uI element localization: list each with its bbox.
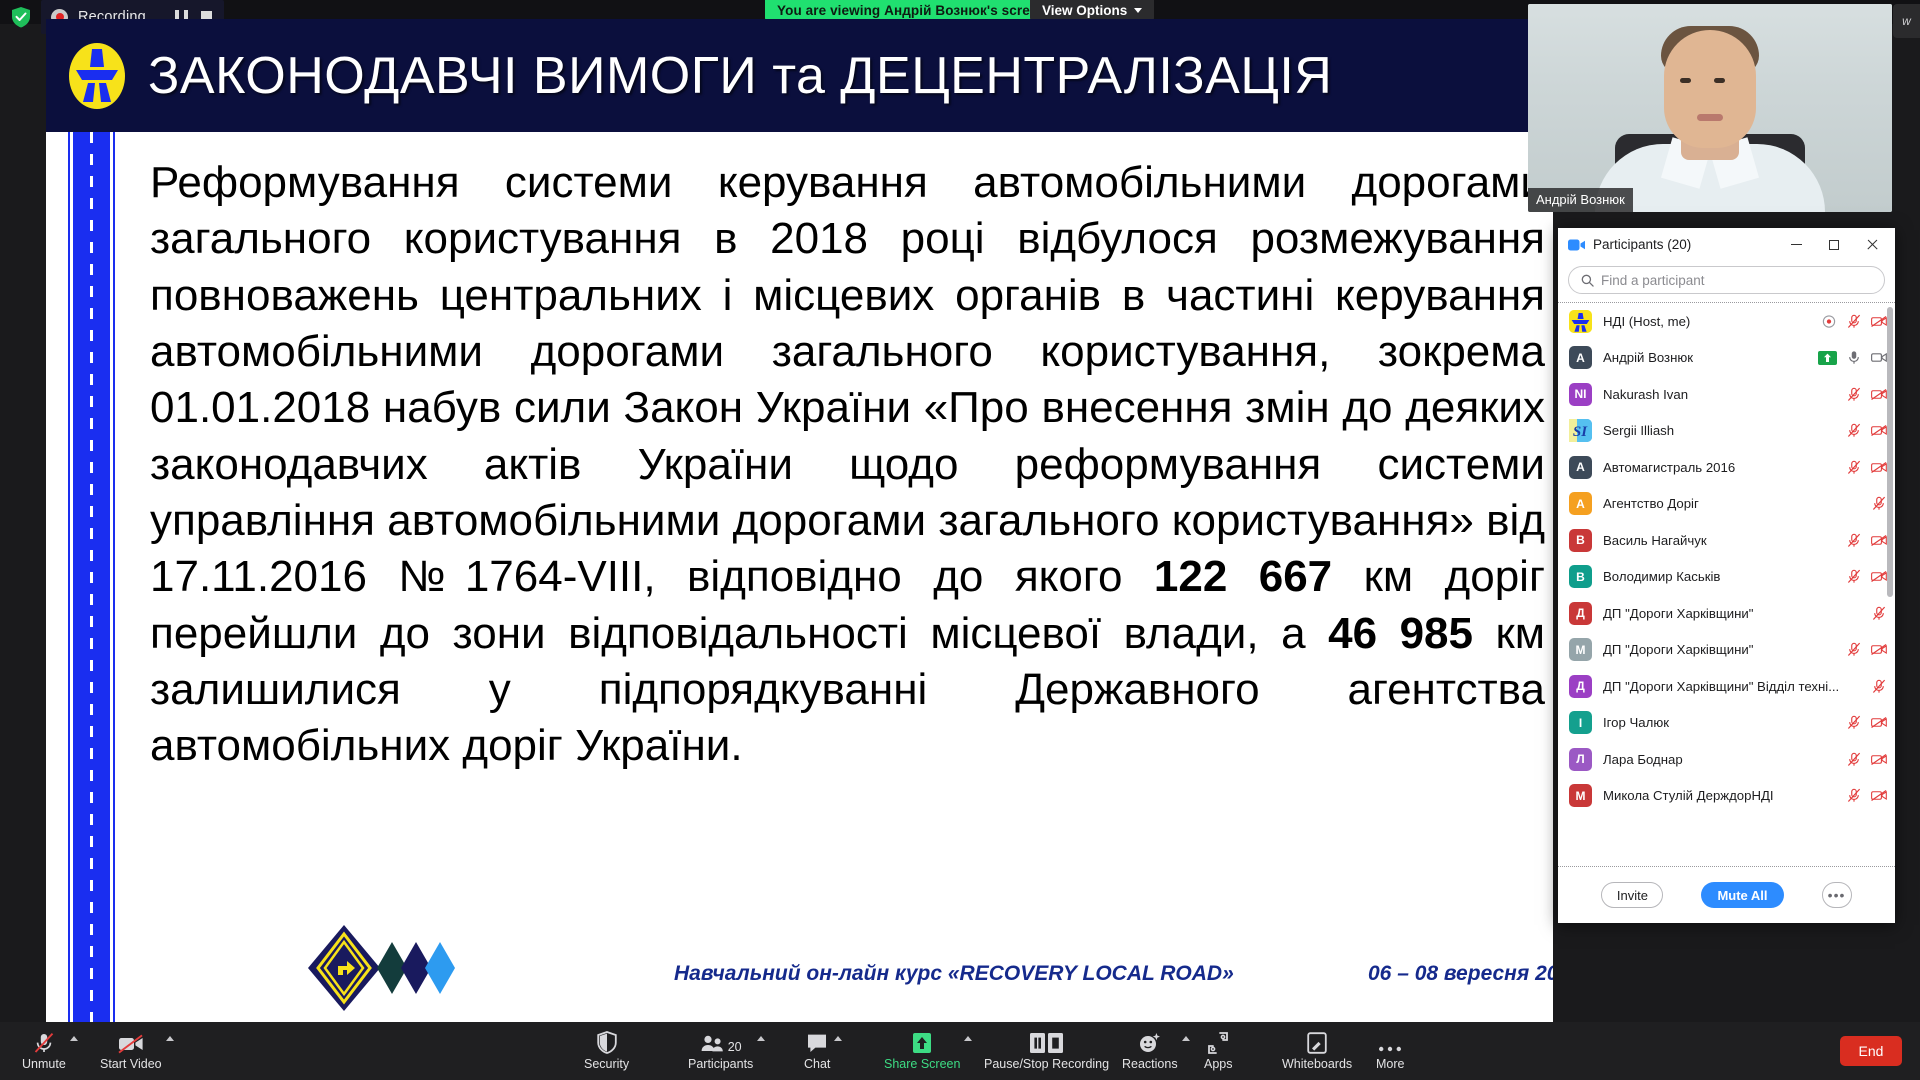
toolbar-participants-button[interactable]: 20Participants bbox=[684, 1022, 757, 1080]
toolbar-item-label: Share Screen bbox=[884, 1057, 960, 1071]
panel-close-button[interactable] bbox=[1857, 232, 1887, 258]
mic-muted-icon[interactable] bbox=[1871, 679, 1887, 694]
chat-icon bbox=[806, 1032, 828, 1054]
participant-name: Автомагистраль 2016 bbox=[1603, 460, 1835, 475]
meeting-toolbar: End Unmute Start Video Security 20Partic… bbox=[0, 1022, 1920, 1080]
participant-search-box[interactable] bbox=[1568, 266, 1885, 294]
participant-name: Лара Боднар bbox=[1603, 752, 1835, 767]
footer-course-label: Навчальний он-лайн курс «RECOVERY LOCAL … bbox=[674, 962, 1234, 986]
toolbar-chat-button[interactable]: Chat bbox=[800, 1022, 834, 1080]
slide-footer: Навчальний он-лайн курс «RECOVERY LOCAL … bbox=[46, 911, 1553, 1029]
mic-muted-icon[interactable] bbox=[1871, 496, 1887, 511]
toolbar-item-label: Whiteboards bbox=[1282, 1057, 1352, 1071]
participant-status-icons bbox=[1871, 679, 1887, 694]
participant-status-icons bbox=[1846, 423, 1887, 438]
toolbar-item-label: Security bbox=[584, 1057, 629, 1071]
video-face bbox=[1664, 30, 1756, 148]
end-meeting-button[interactable]: End bbox=[1840, 1036, 1902, 1066]
participant-name: ДП "Дороги Харківщини" bbox=[1603, 606, 1860, 621]
mic-muted-icon[interactable] bbox=[1846, 314, 1862, 329]
participant-status-icons bbox=[1846, 752, 1887, 767]
participant-row[interactable]: ААндрій Вознюк bbox=[1558, 340, 1895, 377]
chevron-up-icon[interactable] bbox=[1182, 1036, 1190, 1041]
participant-avatar: Д bbox=[1569, 602, 1592, 625]
recording-status-icon bbox=[1821, 314, 1837, 329]
video-mouth bbox=[1697, 114, 1723, 121]
pause-stop-icon bbox=[1030, 1032, 1064, 1054]
speaker-video-tile[interactable]: Андрій Вознюк bbox=[1528, 4, 1892, 212]
mute-all-button[interactable]: Mute All bbox=[1701, 882, 1783, 908]
search-input[interactable] bbox=[1601, 273, 1872, 288]
mic-on-icon[interactable] bbox=[1846, 350, 1862, 365]
svg-text:SI: SI bbox=[1573, 424, 1588, 440]
participant-name: Sergii Illiash bbox=[1603, 423, 1835, 438]
mic-muted-icon[interactable] bbox=[1846, 533, 1862, 548]
share-icon bbox=[910, 1032, 934, 1054]
toolbar-item-label: Pause/Stop Recording bbox=[984, 1057, 1109, 1071]
participant-status-icons bbox=[1846, 533, 1887, 548]
apps-icon bbox=[1207, 1032, 1229, 1054]
search-icon bbox=[1581, 274, 1594, 287]
participants-count-badge: 20 bbox=[728, 1040, 742, 1054]
toolbar-share-screen-button[interactable]: Share Screen bbox=[880, 1022, 964, 1080]
slide-body-text: Реформування системи керування автомобіл… bbox=[150, 155, 1545, 774]
participant-avatar bbox=[1569, 310, 1592, 333]
camera-off-icon[interactable] bbox=[1871, 314, 1887, 329]
participant-row[interactable]: НДІ (Host, me) bbox=[1558, 303, 1895, 340]
video-participant-name: Андрій Вознюк bbox=[1528, 188, 1633, 212]
participant-row[interactable]: NINakurash Ivan bbox=[1558, 376, 1895, 413]
participant-row[interactable]: ААвтомагистраль 2016 bbox=[1558, 449, 1895, 486]
participant-row[interactable]: ВВасиль Нагайчук bbox=[1558, 522, 1895, 559]
mic-muted-icon[interactable] bbox=[1846, 387, 1862, 402]
participant-avatar: А bbox=[1569, 492, 1592, 515]
participant-avatar: А bbox=[1569, 346, 1592, 369]
participant-row[interactable]: ДДП "Дороги Харківщини" Відділ техні... bbox=[1558, 668, 1895, 705]
participants-more-button[interactable]: ••• bbox=[1822, 882, 1852, 908]
reactions-icon bbox=[1138, 1032, 1162, 1054]
participant-status-icons bbox=[1871, 606, 1887, 621]
toolbar-item-label: More bbox=[1376, 1057, 1404, 1071]
people-icon: 20 bbox=[700, 1032, 742, 1054]
participant-status-icons bbox=[1846, 642, 1887, 657]
participants-scrollbar[interactable] bbox=[1887, 307, 1893, 842]
toolbar-apps-button[interactable]: Apps bbox=[1200, 1022, 1237, 1080]
toolbar-item-label: Unmute bbox=[22, 1057, 66, 1071]
road-stripe-decoration bbox=[68, 132, 114, 1029]
antivirus-shield-icon[interactable] bbox=[8, 4, 34, 30]
chevron-up-icon[interactable] bbox=[70, 1036, 78, 1041]
participants-panel-title: Participants (20) bbox=[1593, 237, 1773, 252]
toolbar-pause-stop-recording-button[interactable]: Pause/Stop Recording bbox=[980, 1022, 1113, 1080]
participant-name: Микола Стулій ДерждорНДІ bbox=[1603, 788, 1835, 803]
participant-avatar: NI bbox=[1569, 383, 1592, 406]
camera-off-icon[interactable] bbox=[1871, 387, 1887, 402]
mic-muted-icon[interactable] bbox=[1846, 460, 1862, 475]
shield-icon bbox=[597, 1032, 617, 1054]
panel-maximize-button[interactable] bbox=[1819, 232, 1849, 258]
chevron-up-icon[interactable] bbox=[834, 1036, 842, 1041]
slide-title: ЗАКОНОДАВЧІ ВИМОГИ та ДЕЦЕНТРАЛІЗАЦІЯ bbox=[148, 46, 1332, 106]
participants-panel-titlebar: Participants (20) bbox=[1558, 228, 1895, 262]
participant-name: ДП "Дороги Харківщини" bbox=[1603, 642, 1835, 657]
toolbar-unmute-button[interactable]: Unmute bbox=[18, 1022, 70, 1080]
chevron-up-icon[interactable] bbox=[166, 1036, 174, 1041]
mic-muted-icon[interactable] bbox=[1846, 423, 1862, 438]
participant-name: Агентство Доріг bbox=[1603, 496, 1860, 511]
participant-row[interactable]: ААгентство Доріг bbox=[1558, 486, 1895, 523]
participant-status-icons bbox=[1846, 569, 1887, 584]
view-options-button[interactable]: View Options bbox=[1030, 0, 1154, 21]
participant-avatar: А bbox=[1569, 456, 1592, 479]
participant-avatar: В bbox=[1569, 529, 1592, 552]
participant-avatar: Д bbox=[1569, 675, 1592, 698]
video-eye-right bbox=[1714, 78, 1725, 83]
mic-muted-icon[interactable] bbox=[1846, 569, 1862, 584]
mic-muted-icon[interactable] bbox=[1846, 642, 1862, 657]
participant-name: Nakurash Ivan bbox=[1603, 387, 1835, 402]
camera-off-icon[interactable] bbox=[1871, 642, 1887, 657]
collapsed-side-tab[interactable]: w bbox=[1893, 4, 1920, 38]
toolbar-item-label: Apps bbox=[1204, 1057, 1233, 1071]
participant-avatar: М bbox=[1569, 784, 1592, 807]
participant-status-icons bbox=[1871, 496, 1887, 511]
participant-avatar: SI bbox=[1569, 419, 1592, 442]
camera-off-icon[interactable] bbox=[1871, 460, 1887, 475]
video-eye-left bbox=[1680, 78, 1691, 83]
toolbar-start-video-button[interactable]: Start Video bbox=[96, 1022, 166, 1080]
screen-share-indicator-icon bbox=[1818, 351, 1837, 365]
participant-status-icons bbox=[1846, 788, 1887, 803]
participant-avatar: М bbox=[1569, 638, 1592, 661]
toolbar-item-label: Start Video bbox=[100, 1057, 162, 1071]
mic-muted-icon[interactable] bbox=[1846, 715, 1862, 730]
camera-off-icon[interactable] bbox=[1871, 423, 1887, 438]
participant-name: НДІ (Host, me) bbox=[1603, 314, 1810, 329]
footer-diamond-logo-icon bbox=[308, 925, 458, 1011]
participant-avatar: В bbox=[1569, 565, 1592, 588]
camera-off-icon[interactable] bbox=[1871, 788, 1887, 803]
toolbar-whiteboards-button[interactable]: Whiteboards bbox=[1278, 1022, 1356, 1080]
video-off-icon bbox=[118, 1032, 144, 1054]
toolbar-item-label: Participants bbox=[688, 1057, 753, 1071]
participant-name: Андрій Вознюк bbox=[1603, 350, 1807, 365]
invite-button[interactable]: Invite bbox=[1601, 882, 1663, 908]
participant-name: Василь Нагайчук bbox=[1603, 533, 1835, 548]
toolbar-reactions-button[interactable]: Reactions bbox=[1118, 1022, 1182, 1080]
chevron-up-icon[interactable] bbox=[757, 1036, 765, 1041]
footer-dates-label: 06 – 08 вересня 2022 року bbox=[1368, 962, 1553, 986]
chevron-down-icon bbox=[1134, 8, 1142, 13]
participant-row[interactable]: МДП "Дороги Харківщини" bbox=[1558, 632, 1895, 669]
participant-avatar: І bbox=[1569, 711, 1592, 734]
mic-muted-icon[interactable] bbox=[1846, 752, 1862, 767]
view-options-label: View Options bbox=[1042, 3, 1127, 18]
chevron-up-icon[interactable] bbox=[964, 1036, 972, 1041]
video-camera-icon bbox=[1568, 239, 1585, 251]
toolbar-item-label: Chat bbox=[804, 1057, 830, 1071]
ukravtodor-logo-icon bbox=[64, 37, 130, 115]
participant-row[interactable]: ММикола Стулій ДерждорНДІ bbox=[1558, 778, 1895, 815]
participant-row[interactable]: ДДП "Дороги Харківщини" bbox=[1558, 595, 1895, 632]
participant-search-row bbox=[1558, 262, 1895, 302]
mic-muted-icon[interactable] bbox=[1871, 606, 1887, 621]
participant-status-icons bbox=[1846, 715, 1887, 730]
viewing-screen-banner: You are viewing Андрій Вознюк's screen bbox=[765, 0, 1058, 21]
participants-scroll-thumb[interactable] bbox=[1887, 307, 1893, 597]
participant-name: Ігор Чалюк bbox=[1603, 715, 1835, 730]
camera-off-icon[interactable] bbox=[1871, 752, 1887, 767]
toolbar-security-button[interactable]: Security bbox=[580, 1022, 633, 1080]
participant-status-icons bbox=[1846, 460, 1887, 475]
participant-row[interactable]: ЛЛара Боднар bbox=[1558, 741, 1895, 778]
participant-status-icons bbox=[1846, 387, 1887, 402]
participant-name: ДП "Дороги Харківщини" Відділ техні... bbox=[1603, 679, 1860, 694]
participant-row[interactable]: ІІгор Чалюк bbox=[1558, 705, 1895, 742]
participant-name: Володимир Каськів bbox=[1603, 569, 1835, 584]
whiteboard-icon bbox=[1307, 1032, 1327, 1054]
participant-status-icons bbox=[1818, 350, 1887, 365]
camera-on-icon[interactable] bbox=[1871, 350, 1887, 365]
toolbar-more-button[interactable]: More bbox=[1372, 1022, 1408, 1080]
camera-off-icon[interactable] bbox=[1871, 533, 1887, 548]
camera-off-icon[interactable] bbox=[1871, 715, 1887, 730]
camera-off-icon[interactable] bbox=[1871, 569, 1887, 584]
more-icon bbox=[1378, 1032, 1402, 1054]
zoom-meeting-window: Recording... You are viewing Андрій Возн… bbox=[0, 0, 1920, 1080]
panel-minimize-button[interactable] bbox=[1781, 232, 1811, 258]
participant-status-icons bbox=[1821, 314, 1887, 329]
participants-panel-footer: Invite Mute All ••• bbox=[1558, 867, 1895, 923]
participants-panel: Participants (20) НДІ (Host, me) bbox=[1558, 228, 1895, 923]
participants-list[interactable]: НДІ (Host, me) ААндрій Вознюк NINakurash… bbox=[1558, 302, 1895, 867]
mic-muted-icon bbox=[33, 1032, 55, 1054]
slide-header: ЗАКОНОДАВЧІ ВИМОГИ та ДЕЦЕНТРАЛІЗАЦІЯ bbox=[46, 19, 1553, 132]
participant-avatar: Л bbox=[1569, 748, 1592, 771]
participant-row[interactable]: ВВолодимир Каськів bbox=[1558, 559, 1895, 596]
participant-row[interactable]: SISergii Illiash bbox=[1558, 413, 1895, 450]
mic-muted-icon[interactable] bbox=[1846, 788, 1862, 803]
toolbar-item-label: Reactions bbox=[1122, 1057, 1178, 1071]
shared-slide: ЗАКОНОДАВЧІ ВИМОГИ та ДЕЦЕНТРАЛІЗАЦІЯ Ре… bbox=[46, 19, 1553, 1029]
